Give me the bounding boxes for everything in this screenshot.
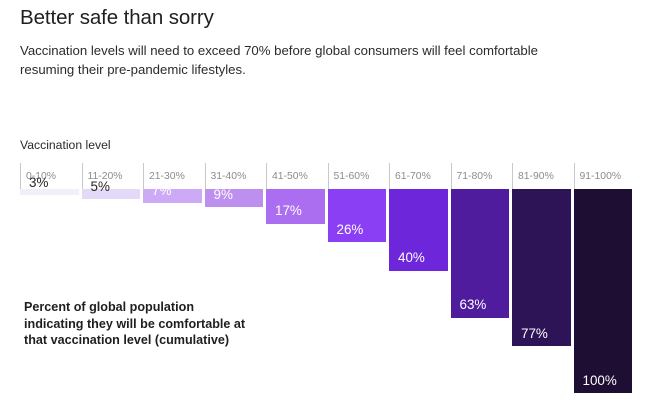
bar-value-label: 63%: [451, 298, 487, 317]
bar-area: 5%: [82, 189, 141, 393]
bar[interactable]: 63%: [451, 189, 510, 318]
bar[interactable]: 40%: [389, 189, 448, 271]
bar-value-label: 40%: [389, 251, 425, 270]
bar-value-label: 26%: [328, 223, 364, 242]
x-tick-label: 41-50%: [266, 163, 308, 189]
bar-value-label: 9%: [205, 188, 233, 207]
bar-column: 41-50%17%: [266, 163, 325, 393]
bar[interactable]: 26%: [328, 189, 387, 242]
bar-chart-plot: 0-10%3%11-20%5%21-30%7%31-40%9%41-50%17%…: [20, 163, 632, 393]
bar-column: 91-100%100%: [574, 163, 633, 393]
chart-page: Better safe than sorry Vaccination level…: [0, 0, 650, 415]
x-tick-label: 81-90%: [512, 163, 554, 189]
bar-column: 71-80%63%: [451, 163, 510, 393]
x-axis-title: Vaccination level: [20, 138, 111, 152]
bar-value-label: 17%: [266, 204, 302, 223]
bar[interactable]: 7%: [143, 189, 202, 203]
bar-area: 63%: [451, 189, 510, 393]
bar-column: 11-20%5%: [82, 163, 141, 393]
x-tick-label: 51-60%: [328, 163, 370, 189]
chart-header: Better safe than sorry Vaccination level…: [20, 6, 620, 80]
x-tick-label: 61-70%: [389, 163, 431, 189]
bar-column: 81-90%77%: [512, 163, 571, 393]
bar[interactable]: 5%: [82, 189, 141, 199]
bar-area: 100%: [574, 189, 633, 393]
bar-value-label: 100%: [574, 374, 617, 393]
bar-column: 31-40%9%: [205, 163, 264, 393]
bar-area: 77%: [512, 189, 571, 393]
bar[interactable]: 77%: [512, 189, 571, 346]
bar-columns: 0-10%3%11-20%5%21-30%7%31-40%9%41-50%17%…: [20, 163, 632, 393]
bar-column: 21-30%7%: [143, 163, 202, 393]
bar-area: 3%: [20, 189, 79, 393]
x-tick-label: 71-80%: [451, 163, 493, 189]
bar-column: 61-70%40%: [389, 163, 448, 393]
bar-area: 40%: [389, 189, 448, 393]
bar-value-label: 5%: [82, 180, 110, 199]
bar-value-label: 3%: [20, 176, 48, 195]
bar[interactable]: 3%: [20, 189, 79, 195]
bar-value-label: 77%: [512, 327, 548, 346]
bar-column: 51-60%26%: [328, 163, 387, 393]
bar-area: 17%: [266, 189, 325, 393]
bar[interactable]: 17%: [266, 189, 325, 224]
bar[interactable]: 100%: [574, 189, 633, 393]
bar-column: 0-10%3%: [20, 163, 79, 393]
bar-area: 9%: [205, 189, 264, 393]
chart-subtitle: Vaccination levels will need to exceed 7…: [20, 41, 580, 80]
bar-area: 7%: [143, 189, 202, 393]
x-tick-label: 31-40%: [205, 163, 247, 189]
bar[interactable]: 9%: [205, 189, 264, 207]
page-title: Better safe than sorry: [20, 6, 620, 30]
series-annotation: Percent of global population indicating …: [24, 299, 254, 349]
bar-value-label: 7%: [143, 184, 171, 203]
bar-area: 26%: [328, 189, 387, 393]
x-tick-label: 91-100%: [574, 163, 622, 189]
